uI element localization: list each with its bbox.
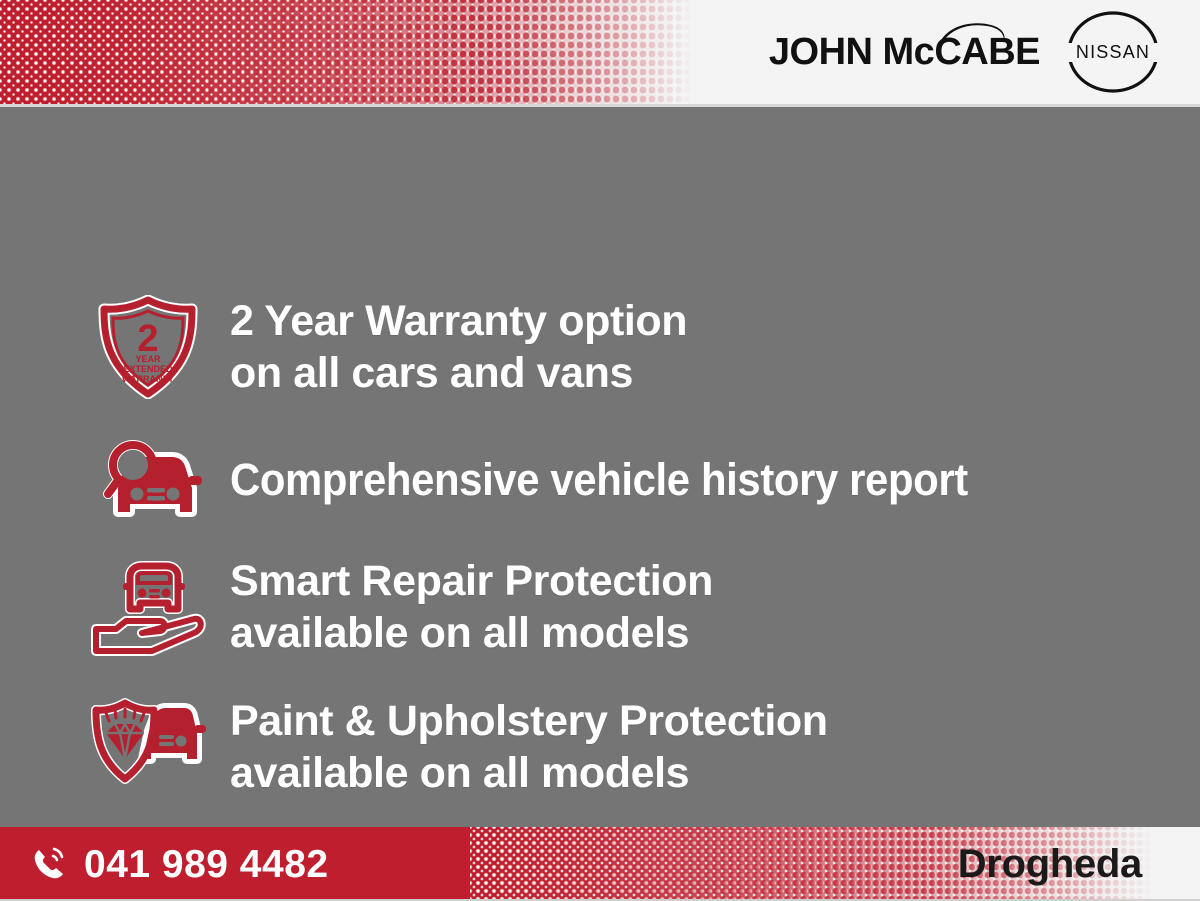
location-block: Drogheda [958,827,1142,901]
dealer-name-text: JOHN McCABE [769,31,1040,73]
nissan-logo-icon: NISSAN [1060,10,1166,94]
car-on-hand-icon [88,555,208,659]
feature-label: Comprehensive vehicle history report [230,453,968,508]
poster-footer: 041 989 4482 Drogheda [0,827,1200,901]
header-halftone-pattern-secondary [40,0,700,104]
feature-item-warranty: 2 YEAR EXTENDED WARRANTY 2 Year Warranty… [88,295,687,400]
feature-label: 2 Year Warranty option on all cars and v… [230,295,687,400]
feature-item-smart-repair: Smart Repair Protection available on all… [88,555,713,660]
dealer-name: JOHN McCABE [769,33,1040,71]
feature-label: Smart Repair Protection available on all… [230,555,713,660]
phone-icon [30,845,68,883]
poster-header: JOHN McCABE NISSAN [0,0,1200,104]
car-magnifier-icon [88,432,208,528]
svg-text:WARRANTY: WARRANTY [122,374,174,384]
svg-text:EXTENDED: EXTENDED [123,364,173,374]
shield-diamond-car-icon [88,697,208,797]
feature-item-paint-protection: Paint & Upholstery Protection available … [88,695,828,800]
feature-item-history-report: Comprehensive vehicle history report [88,432,1023,528]
shield-warranty-icon: 2 YEAR EXTENDED WARRANTY [88,295,208,399]
location-name: Drogheda [958,844,1142,884]
promo-poster: JOHN McCABE NISSAN 2 YEAR [0,0,1200,901]
svg-text:YEAR: YEAR [135,354,161,364]
svg-text:NISSAN: NISSAN [1076,42,1150,62]
features-list: 2 YEAR EXTENDED WARRANTY 2 Year Warranty… [0,107,1200,826]
phone-contact[interactable]: 041 989 4482 [30,827,329,901]
brand-lockup: JOHN McCABE NISSAN [769,0,1166,104]
feature-label: Paint & Upholstery Protection available … [230,695,828,800]
phone-number[interactable]: 041 989 4482 [84,845,329,884]
